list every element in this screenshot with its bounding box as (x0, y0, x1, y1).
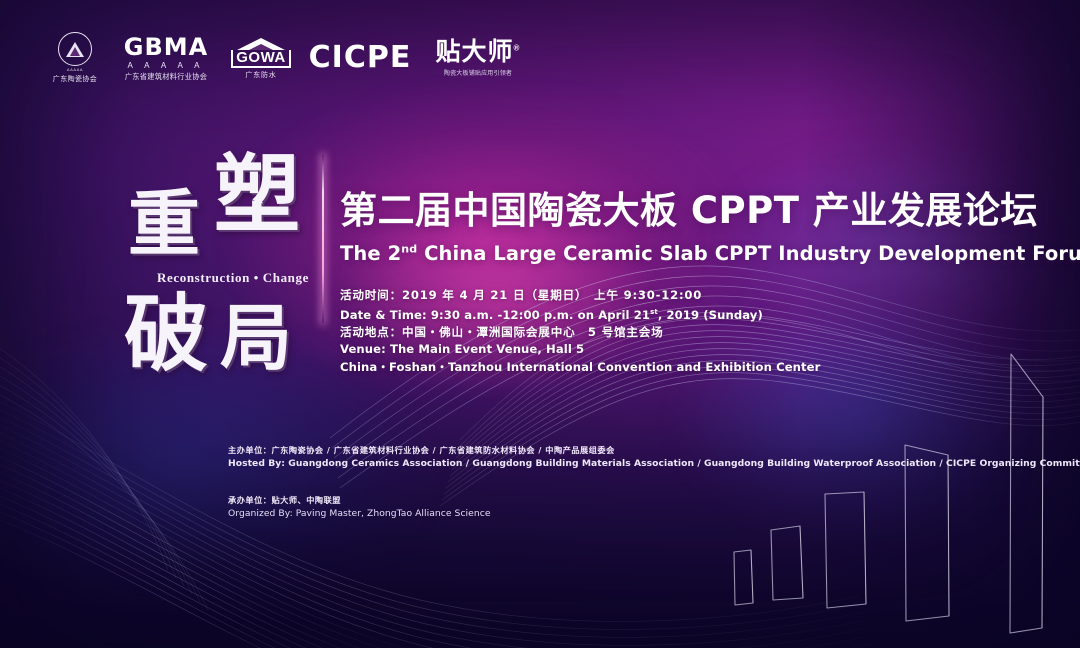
logo-gbma: GBMA A A A A A 广东省建筑材料行业协会 (118, 35, 214, 82)
host-organizations-english: Hosted By: Guangdong Ceramics Associatio… (228, 457, 928, 471)
event-venue-english-2: China・Foshan・Tanzhou International Conve… (340, 359, 980, 376)
forum-title-chinese: 第二届中国陶瓷大板 CPPT 产业发展论坛 (340, 190, 1000, 233)
date-en-ordinal: st (650, 308, 658, 316)
paving-master-wordmark-icon: 贴大师® (436, 40, 521, 65)
forum-title-english: The 2nd China Large Ceramic Slab CPPT In… (340, 242, 1000, 265)
slogan-char-su: 塑 (214, 152, 300, 238)
logo-stars-gbma: A A A A A (127, 61, 204, 70)
organized-by-english: Organized By: Paving Master, ZhongTao Al… (228, 507, 928, 521)
title-block: 第二届中国陶瓷大板 CPPT 产业发展论坛 The 2nd China Larg… (340, 190, 1000, 265)
logo-caption-gowa: 广东防水 (245, 70, 276, 80)
organized-by-chinese: 承办单位：贴大师、中陶联盟 (228, 494, 928, 507)
date-en-pre: Date & Time: 9:30 a.m. -12:00 p.m. on Ap… (340, 308, 650, 322)
slogan-tagline-en: Reconstruction • Change (138, 270, 328, 286)
organized-by-block: 承办单位：贴大师、中陶联盟 Organized By: Paving Maste… (228, 494, 928, 521)
logo-guangdong-ceramics-association: AAAAA 广东陶瓷协会 (46, 32, 104, 84)
event-venue-chinese: 活动地点：中国・佛山・潭洲国际会展中心 5 号馆主会场 (340, 324, 980, 341)
logo-caption-gca: 广东陶瓷协会 (53, 74, 97, 84)
registered-mark-icon: ® (514, 43, 521, 52)
logo-paving-master: 贴大师® 陶瓷大板铺贴应用引领者 (426, 40, 530, 77)
slogan-char-ju: 局 (220, 302, 292, 374)
gowa-wordmark-icon: GOWA (231, 50, 291, 68)
paving-master-text: 贴大师 (436, 38, 514, 66)
organizer-block: 主办单位：广东陶瓷协会 / 广东省建筑材料行业协会 / 广东省建筑防水材料协会 … (228, 444, 928, 521)
sponsor-logo-bar: AAAAA 广东陶瓷协会 GBMA A A A A A 广东省建筑材料行业协会 … (46, 28, 530, 88)
event-date-chinese: 活动时间：2019 年 4 月 21 日（星期日） 上午 9:30-12:00 (340, 287, 980, 304)
logo-caption-paving-master: 陶瓷大板铺贴应用引领者 (444, 68, 512, 77)
title-en-pre: The 2 (340, 242, 401, 265)
title-en-ordinal: nd (401, 242, 417, 255)
event-venue-english-1: Venue: The Main Event Venue, Hall 5 (340, 341, 980, 358)
event-date-english: Date & Time: 9:30 a.m. -12:00 p.m. on Ap… (340, 304, 980, 324)
poster-canvas: AAAAA 广东陶瓷协会 GBMA A A A A A 广东省建筑材料行业协会 … (0, 0, 1080, 648)
cicpe-wordmark-icon: CICPE (309, 43, 412, 73)
logo-stars-gca: AAAAA (67, 67, 83, 72)
logo-cicpe: CICPE (308, 43, 412, 73)
roof-logo-icon (235, 36, 287, 50)
logo-gowa: GOWA 广东防水 (228, 36, 294, 80)
date-en-post: , 2019 (Sunday) (658, 308, 763, 322)
slogan-char-po: 破 (124, 292, 208, 376)
title-en-post: China Large Ceramic Slab CPPT Industry D… (417, 242, 1080, 265)
hero-chinese-slogan: 重 塑 Reconstruction • Change 破 局 (128, 152, 328, 392)
vertical-divider-line (322, 155, 324, 323)
logo-caption-gbma: 广东省建筑材料行业协会 (125, 72, 207, 82)
triangle-circle-logo-icon (58, 32, 92, 66)
gbma-wordmark-icon: GBMA (124, 35, 208, 59)
slogan-char-chong: 重 (128, 188, 200, 260)
host-organizations-chinese: 主办单位：广东陶瓷协会 / 广东省建筑材料行业协会 / 广东省建筑防水材料协会 … (228, 444, 928, 457)
event-details: 活动时间：2019 年 4 月 21 日（星期日） 上午 9:30-12:00 … (340, 287, 980, 376)
